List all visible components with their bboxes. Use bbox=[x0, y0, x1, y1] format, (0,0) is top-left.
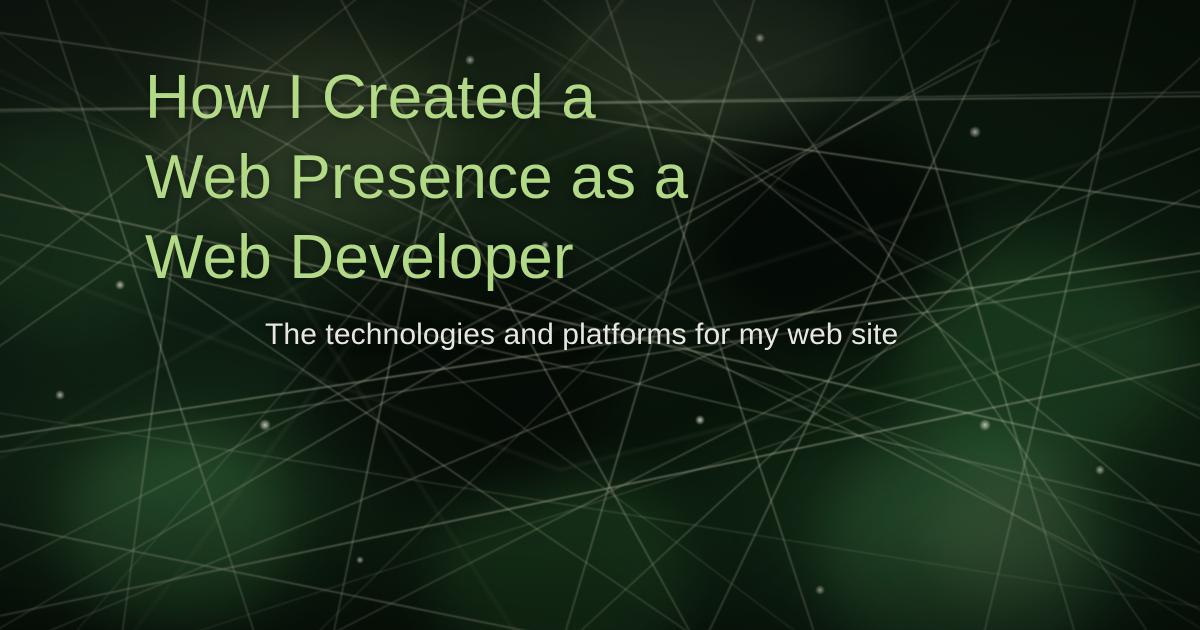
page-subtitle: The technologies and platforms for my we… bbox=[265, 314, 898, 356]
page-title: How I Created a Web Presence as a Web De… bbox=[145, 58, 688, 298]
social-share-card: How I Created a Web Presence as a Web De… bbox=[0, 0, 1200, 630]
hero-content: How I Created a Web Presence as a Web De… bbox=[0, 0, 1200, 630]
